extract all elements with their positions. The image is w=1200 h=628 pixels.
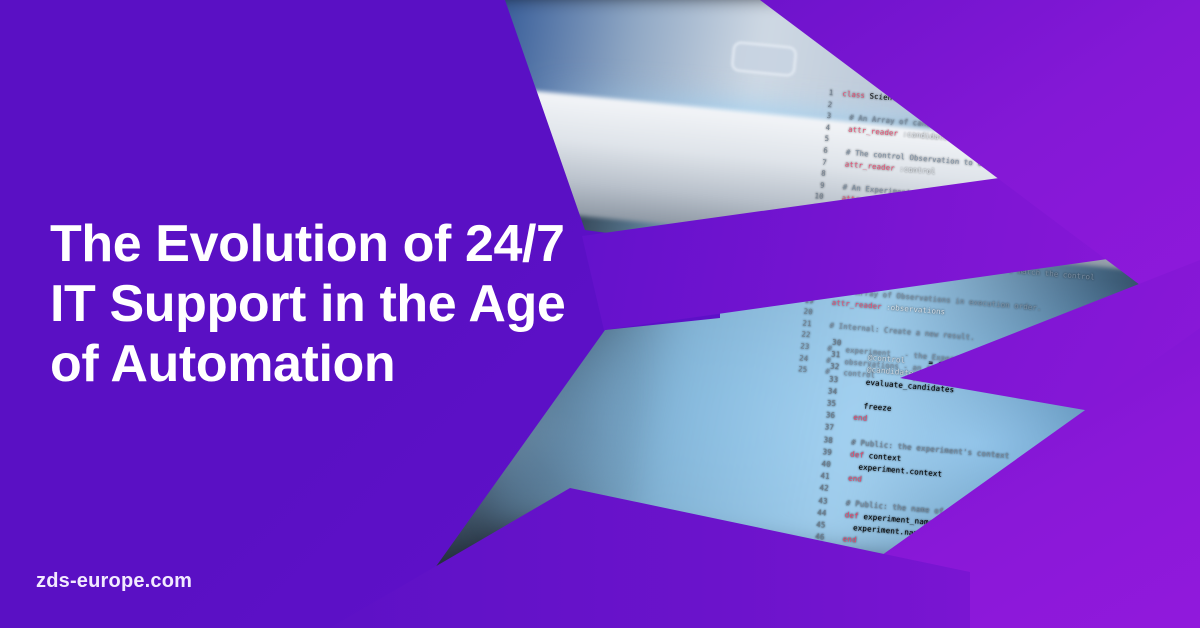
card-content: The Evolution of 24/7 IT Support in the … (0, 0, 1200, 628)
social-share-card: 1class Scientist 2 3 # An Array of candi… (0, 0, 1200, 628)
headline-line-3: of Automation (50, 334, 650, 394)
page-title: The Evolution of 24/7 IT Support in the … (50, 214, 650, 394)
headline-line-1: The Evolution of 24/7 (50, 214, 650, 274)
headline-line-2: IT Support in the Age (50, 274, 650, 334)
site-url[interactable]: zds-europe.com (36, 570, 192, 593)
